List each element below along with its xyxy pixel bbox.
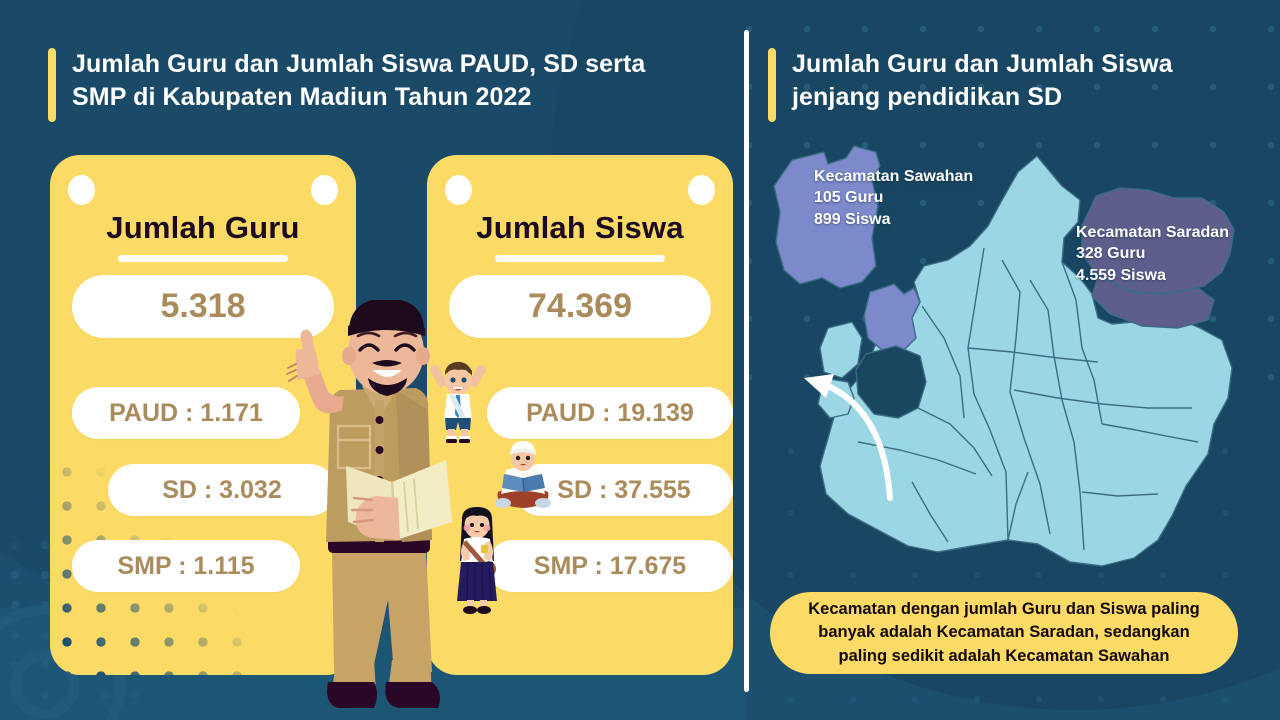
student-paud-illustration — [428, 358, 488, 444]
map-district-sawahan — [864, 284, 920, 352]
siswa-paud-row: PAUD : 19.139 — [487, 387, 733, 439]
guru-smp-row: SMP : 1.115 — [72, 540, 300, 592]
siswa-smp-row: SMP : 17.675 — [487, 540, 733, 592]
map-label-saradan: Kecamatan Saradan 328 Guru 4.559 Siswa — [1076, 222, 1229, 286]
card-underline — [495, 255, 665, 262]
title-accent-bar — [768, 48, 776, 122]
map-caption-box: Kecamatan dengan jumlah Guru dan Siswa p… — [770, 592, 1238, 674]
guru-paud-row: PAUD : 1.171 — [72, 387, 300, 439]
right-title-text: Jumlah Guru dan Jumlah Siswa jenjang pen… — [792, 48, 1173, 114]
card-hole-right — [688, 175, 715, 205]
card-underline — [118, 255, 288, 262]
student-sd-illustration — [490, 440, 556, 512]
card-hole-right — [311, 175, 338, 205]
card-hole-left — [68, 175, 95, 205]
right-panel-title: Jumlah Guru dan Jumlah Siswa jenjang pen… — [768, 48, 1173, 122]
left-panel-title: Jumlah Guru dan Jumlah Siswa PAUD, SD se… — [48, 48, 645, 122]
map-caption-text: Kecamatan dengan jumlah Guru dan Siswa p… — [808, 598, 1200, 668]
title-accent-bar — [48, 48, 56, 122]
student-smp-illustration — [448, 505, 506, 615]
left-title-text: Jumlah Guru dan Jumlah Siswa PAUD, SD se… — [72, 48, 645, 114]
card-hole-left — [445, 175, 472, 205]
map-kabupaten-madiun: Kecamatan Sawahan 105 Guru 899 Siswa Kec… — [762, 142, 1264, 580]
map-label-sawahan: Kecamatan Sawahan 105 Guru 899 Siswa — [814, 166, 973, 230]
card-title-siswa: Jumlah Siswa — [427, 210, 733, 246]
card-title-guru: Jumlah Guru — [50, 210, 356, 246]
panel-divider — [744, 30, 749, 692]
